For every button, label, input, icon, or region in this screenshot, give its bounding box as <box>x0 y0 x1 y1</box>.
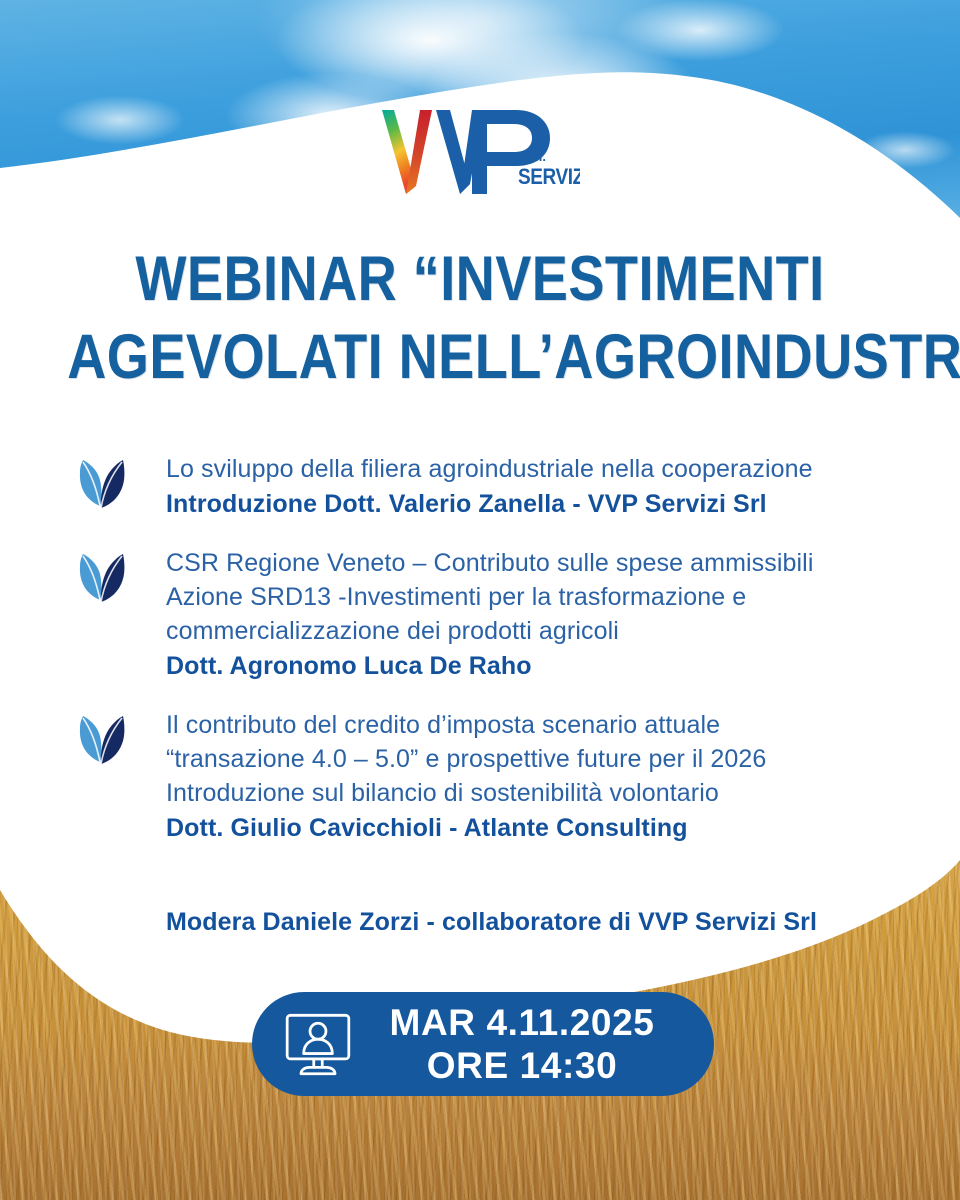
webinar-monitor-icon <box>284 1010 352 1078</box>
program-list: Lo sviluppo della filiera agroindustrial… <box>0 452 960 870</box>
program-item-line: Lo sviluppo della filiera agroindustrial… <box>166 452 813 486</box>
title-line-2: AGEVOLATI NELL’AGROINDUSTRIA” <box>67 318 893 396</box>
leaf-icon <box>74 456 128 510</box>
badge-time: ORE 14:30 <box>352 1044 692 1087</box>
program-item-line: Introduzione sul bilancio di sostenibili… <box>166 776 766 810</box>
brand-logo: s.r.l. SERVIZI <box>0 106 960 203</box>
program-item-line: Il contributo del credito d’imposta scen… <box>166 708 766 742</box>
program-item-text: Lo sviluppo della filiera agroindustrial… <box>74 452 853 522</box>
badge-date: MAR 4.11.2025 <box>352 1001 692 1044</box>
leaf-icon <box>74 712 128 766</box>
logo-srl-text: s.r.l. <box>520 149 546 164</box>
leaf-icon <box>74 550 128 604</box>
program-item-line: CSR Regione Veneto – Contributo sulle sp… <box>166 546 814 580</box>
program-item-line: Azione SRD13 -Investimenti per la trasfo… <box>166 580 814 614</box>
leaf-icon <box>74 712 128 766</box>
program-item-speaker: Dott. Agronomo Luca De Raho <box>166 648 814 684</box>
poster-canvas: s.r.l. SERVIZI WEBINAR “INVESTIMENTI AGE… <box>0 0 960 1200</box>
leaf-icon <box>74 456 128 510</box>
program-item-text: Il contributo del credito d’imposta scen… <box>74 708 806 846</box>
badge-text-block: MAR 4.11.2025 ORE 14:30 <box>352 1001 714 1087</box>
program-item: Lo sviluppo della filiera agroindustrial… <box>0 452 960 522</box>
program-item: Il contributo del credito d’imposta scen… <box>0 708 960 846</box>
vvp-logo-icon: s.r.l. SERVIZI <box>380 106 580 198</box>
program-item-line: “transazione 4.0 – 5.0” e prospettive fu… <box>166 742 766 776</box>
program-item-line: commercializzazione dei prodotti agricol… <box>166 614 814 648</box>
date-time-badge[interactable]: MAR 4.11.2025 ORE 14:30 <box>252 992 714 1096</box>
moderator-line: Modera Daniele Zorzi - collaboratore di … <box>0 908 960 937</box>
program-item-speaker: Dott. Giulio Cavicchioli - Atlante Consu… <box>166 810 766 846</box>
page-title: WEBINAR “INVESTIMENTI AGEVOLATI NELL’AGR… <box>67 240 893 396</box>
logo-servizi-text: SERVIZI <box>518 165 580 190</box>
program-item: CSR Regione Veneto – Contributo sulle sp… <box>0 546 960 684</box>
leaf-icon <box>74 550 128 604</box>
program-item-speaker: Introduzione Dott. Valerio Zanella - VVP… <box>166 486 813 522</box>
title-line-1: WEBINAR “INVESTIMENTI <box>67 240 893 318</box>
program-item-text: CSR Regione Veneto – Contributo sulle sp… <box>74 546 854 684</box>
